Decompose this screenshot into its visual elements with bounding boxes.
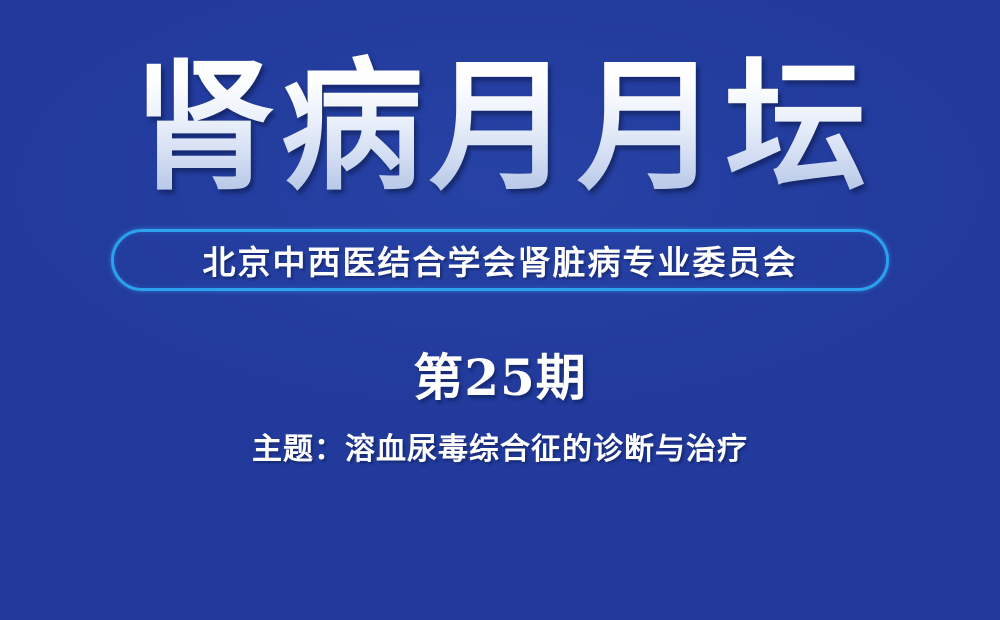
organization-label: 北京中西医结合学会肾脏病专业委员会 (203, 236, 798, 284)
theme-subtitle: 主题：溶血尿毒综合征的诊断与治疗 (0, 424, 1000, 468)
organization-badge: 北京中西医结合学会肾脏病专业委员会 (111, 229, 889, 291)
title-container: 肾病月月坛 (0, 52, 1000, 203)
issue-number: 第25期 (0, 338, 1000, 410)
poster-content: 肾病月月坛 北京中西医结合学会肾脏病专业委员会 第25期 主题：溶血尿毒综合征的… (0, 0, 1000, 620)
page-title: 肾病月月坛 (127, 52, 873, 203)
poster-canvas: 肾病月月坛 北京中西医结合学会肾脏病专业委员会 第25期 主题：溶血尿毒综合征的… (0, 0, 1000, 620)
